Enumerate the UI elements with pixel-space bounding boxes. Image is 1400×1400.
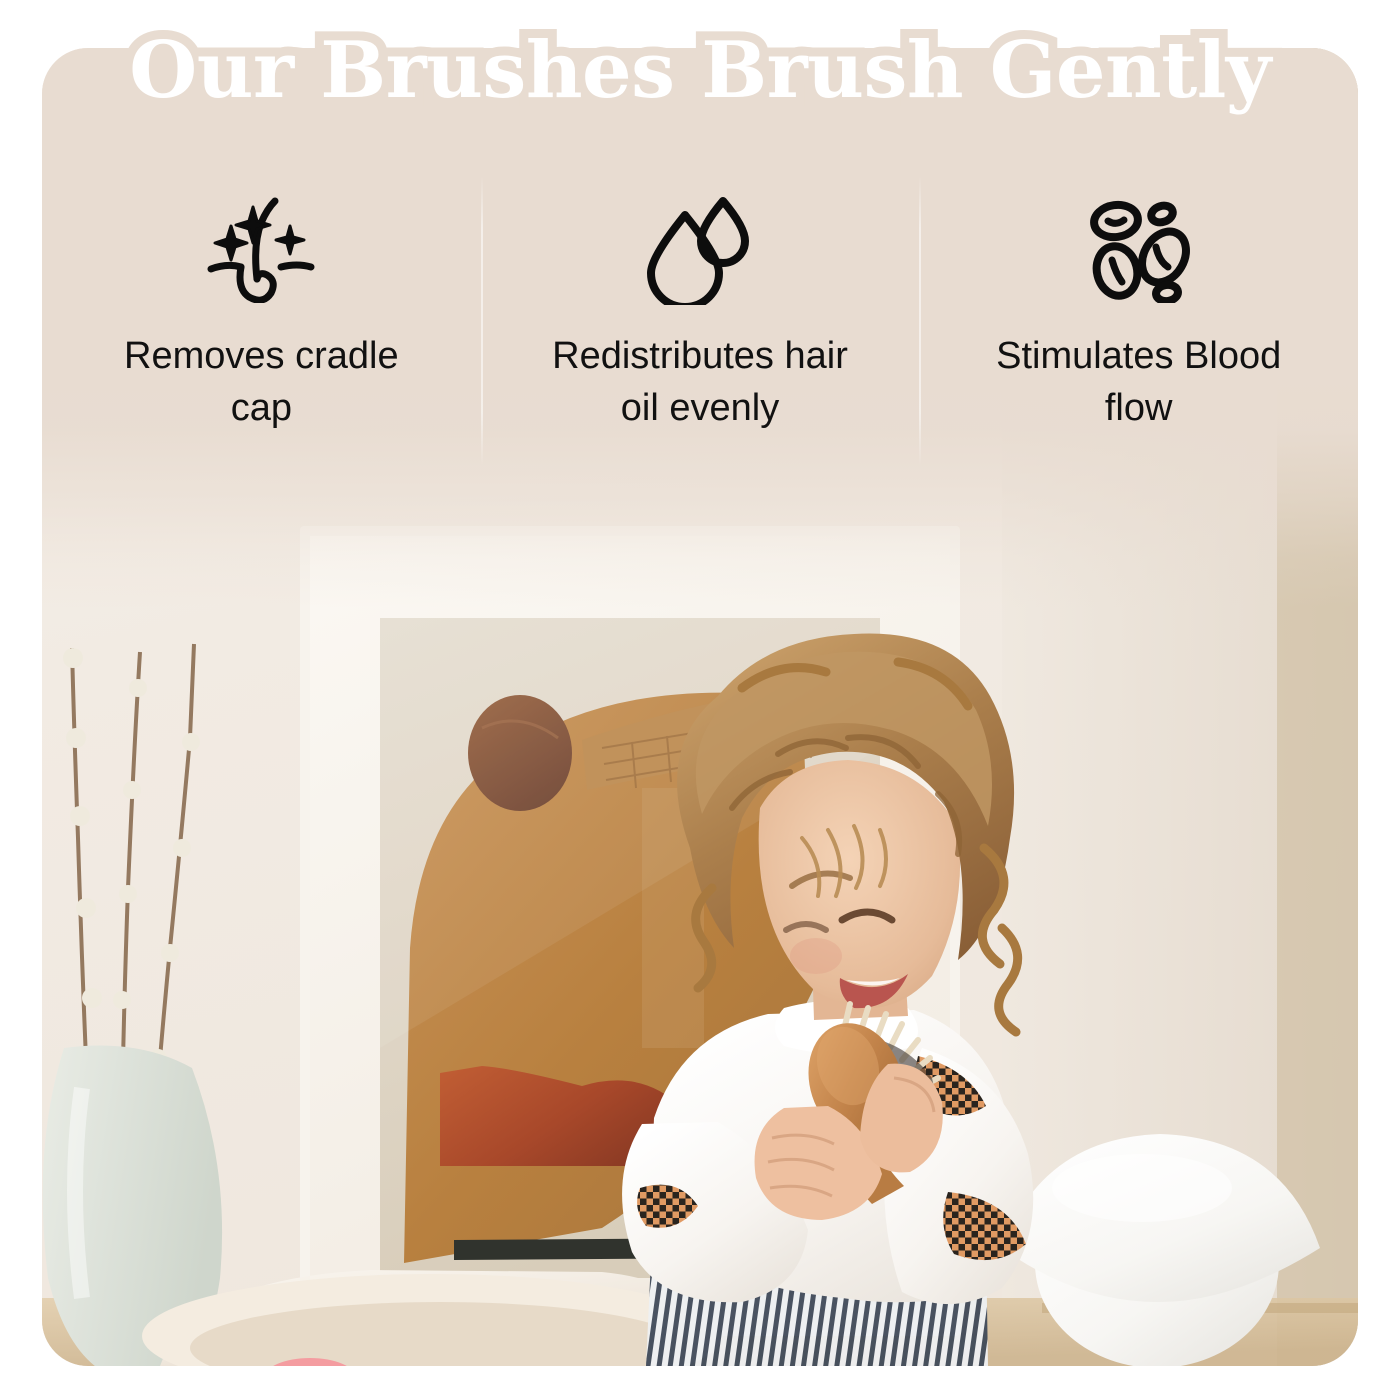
benefit-label: Stimulates Blood flow <box>974 330 1304 435</box>
benefit-redistributes-hair-oil: Redistributes hair oil evenly <box>481 168 920 478</box>
benefit-label: Redistributes hair oil evenly <box>535 330 865 435</box>
benefit-removes-cradle-cap: Removes cradle cap <box>42 168 481 478</box>
infographic-card: Removes cradle cap Redistributes hair oi… <box>0 0 1400 1400</box>
benefits-row: Removes cradle cap Redistributes hair oi… <box>42 168 1358 478</box>
hair-follicle-sparkle-icon <box>201 190 321 308</box>
oil-droplets-icon <box>647 190 753 308</box>
benefit-label: Removes cradle cap <box>96 330 426 435</box>
blood-cells-icon <box>1084 190 1194 308</box>
benefit-stimulates-blood-flow: Stimulates Blood flow <box>919 168 1358 478</box>
